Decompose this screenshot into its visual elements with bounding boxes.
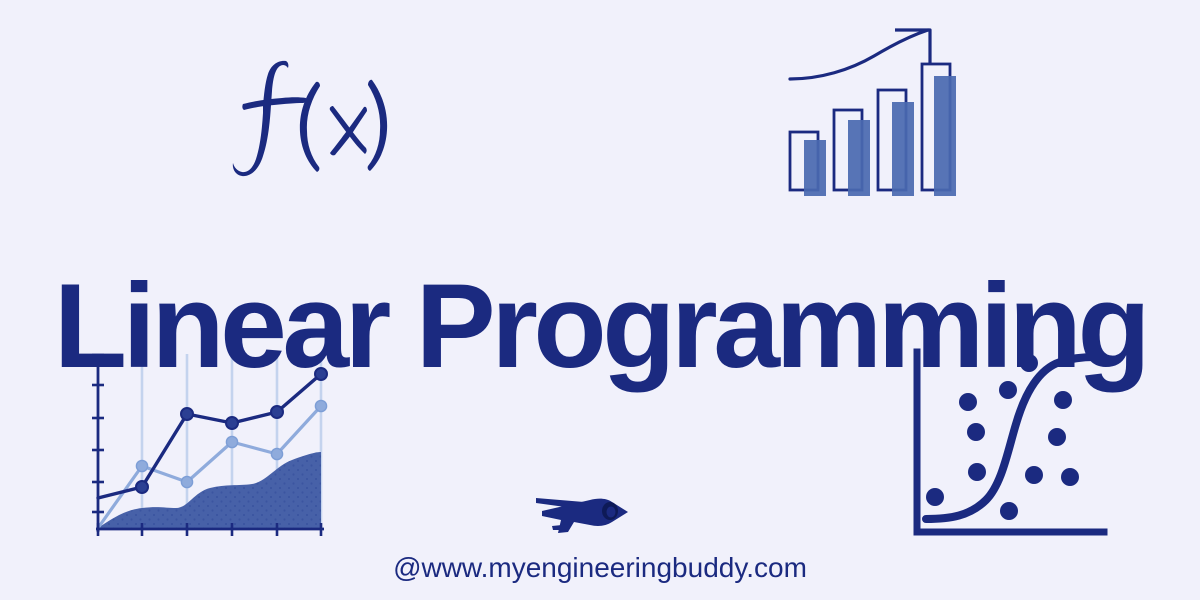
bar-fill-1 bbox=[804, 140, 826, 196]
bar-fill-4 bbox=[934, 76, 956, 196]
growth-arrow-icon bbox=[790, 30, 930, 79]
bar-fill-3 bbox=[892, 102, 914, 196]
website-url-label: @www.myengineeringbuddy.com bbox=[0, 554, 1200, 582]
fx-function-icon bbox=[212, 55, 412, 180]
poster-canvas: Linear Programming @www.myengineeringbud… bbox=[0, 0, 1200, 600]
paper-plane-icon bbox=[528, 484, 638, 546]
page-title: Linear Programming bbox=[0, 266, 1200, 386]
growth-bar-chart-icon bbox=[782, 22, 964, 202]
bar-fill-2 bbox=[848, 120, 870, 196]
